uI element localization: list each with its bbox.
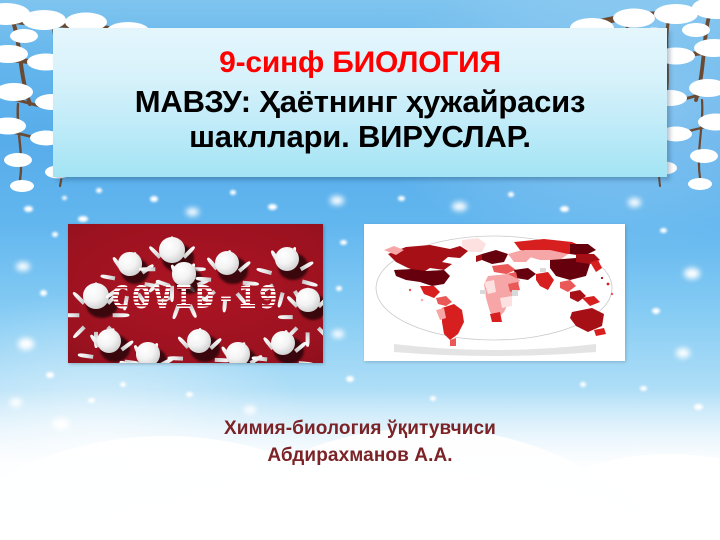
title-line-topic-1: МАВЗУ: Ҳаётнинг ҳужайрасиз <box>61 86 659 118</box>
virus-particle <box>268 240 306 278</box>
title-line-subject: 9-синф БИОЛОГИЯ <box>61 48 659 79</box>
virus-particle <box>90 322 128 360</box>
presenter-role: Химия-биология ўқитувчиси <box>0 416 720 443</box>
covid-19-image: COVID-19 <box>68 224 323 363</box>
world-map-image <box>364 224 625 361</box>
presentation-slide: 9-синф БИОЛОГИЯ МАВЗУ: Ҳаётнинг ҳужайрас… <box>0 0 720 540</box>
virus-particle <box>112 246 148 282</box>
presenter-credit: Химия-биология ўқитувчиси Абдирахманов А… <box>0 416 720 470</box>
virus-particle <box>130 336 166 363</box>
title-text-box: 9-синф БИОЛОГИЯ МАВЗУ: Ҳаётнинг ҳужайрас… <box>53 28 667 177</box>
virus-particle <box>264 324 302 362</box>
presenter-name: Абдирахманов А.А. <box>0 443 720 470</box>
virus-particle <box>208 244 246 282</box>
virus-particle <box>220 336 256 363</box>
virus-particle <box>180 322 218 360</box>
title-line-topic-2: шакллари. ВИРУСЛАР. <box>61 121 659 153</box>
covid-19-caption: COVID-19 <box>68 280 323 316</box>
